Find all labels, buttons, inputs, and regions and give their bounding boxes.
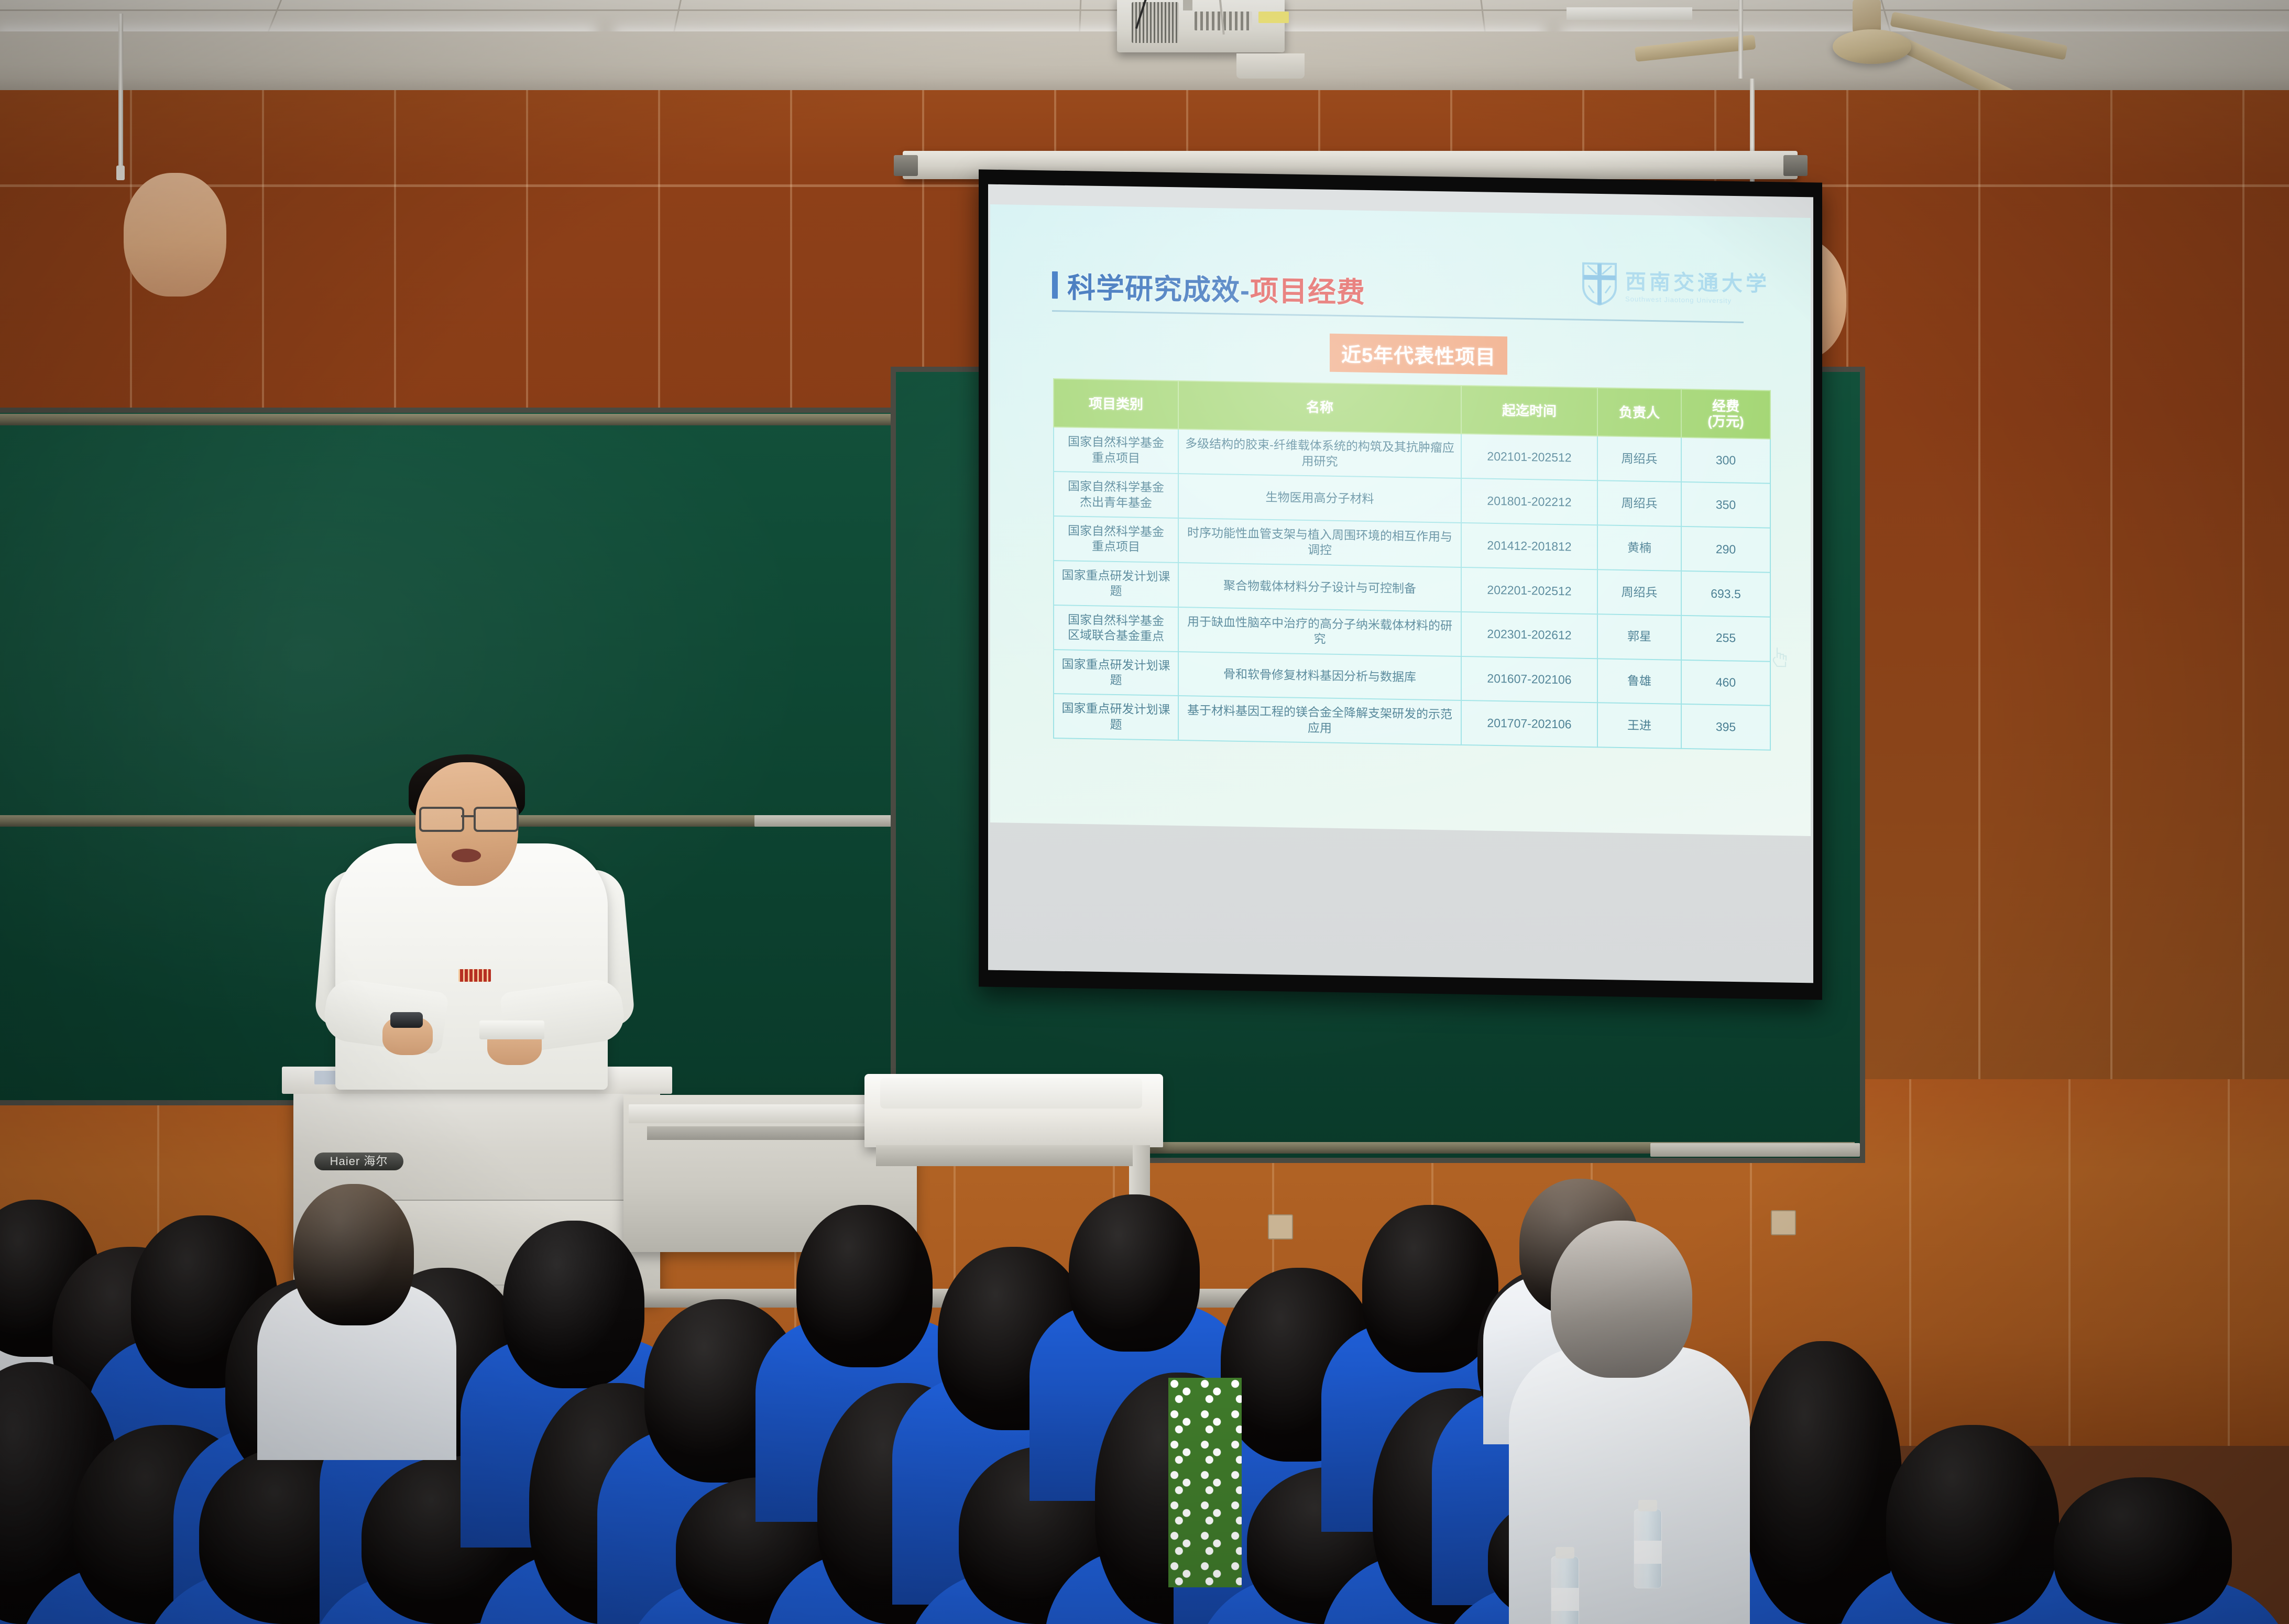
projection-screen-end-cap-right xyxy=(1783,155,1808,176)
slide-title-separator: - xyxy=(1240,275,1250,306)
presenter-glasses-left-lens xyxy=(419,807,464,832)
cell-leader: 周绍兵 xyxy=(1597,436,1681,482)
cell-category: 国家重点研发计划课题 xyxy=(1054,561,1178,607)
audience-head xyxy=(2054,1477,2232,1624)
projects-table-body: 国家自然科学基金重点项目多级结构的胶束-纤维载体系统的构筑及其抗肿瘤应用研究20… xyxy=(1054,427,1770,750)
cell-category: 国家重点研发计划课题 xyxy=(1054,694,1178,740)
slide-title-accent: 项目经费 xyxy=(1250,275,1365,309)
column-header-category: 项目类别 xyxy=(1054,379,1178,429)
sink-apron xyxy=(876,1145,1133,1166)
audience-head xyxy=(1886,1425,2059,1624)
cell-category: 国家自然科学基金区域联合基金重点 xyxy=(1054,605,1178,652)
projects-table: 项目类别 名称 起迄时间 负责人 经费(万元) 国家自然科学基金重点项目多级结构… xyxy=(1053,378,1771,751)
bottle-label xyxy=(1634,1541,1661,1564)
cell-funding: 395 xyxy=(1681,704,1770,750)
column-header-name: 名称 xyxy=(1178,381,1461,434)
projector-label-sticker xyxy=(1258,12,1289,23)
note-cards xyxy=(479,1021,544,1039)
console-brand-plate: Haier 海尔 xyxy=(314,1153,403,1170)
wall-speaker-left xyxy=(124,173,226,297)
cell-category: 国家重点研发计划课题 xyxy=(1054,650,1178,696)
chalkboard-rail-left-top xyxy=(0,414,901,425)
lecture-hall-photo: 科学研究成效-项目经费 近5年代表性项目 西南交通大学 Southwest Ji… xyxy=(0,0,2289,1624)
presenter-glasses-bridge xyxy=(461,815,475,817)
cell-leader: 郭星 xyxy=(1597,614,1681,660)
cell-period: 201412-201812 xyxy=(1461,523,1597,569)
cell-leader: 鲁雄 xyxy=(1597,659,1681,705)
cell-name: 生物医用高分子材料 xyxy=(1178,474,1461,523)
ceiling-fan-motor-housing xyxy=(1833,29,1911,64)
water-bottle-right[interactable] xyxy=(1634,1509,1662,1588)
column-header-period: 起迄时间 xyxy=(1461,386,1597,436)
cell-funding: 255 xyxy=(1681,616,1770,662)
cell-period: 201707-202106 xyxy=(1461,700,1597,747)
cell-period: 202101-202512 xyxy=(1461,434,1597,480)
audience-head xyxy=(293,1184,414,1325)
cell-funding: 350 xyxy=(1681,482,1770,528)
speaker-pole-left xyxy=(118,14,123,171)
cell-leader: 王进 xyxy=(1597,703,1681,749)
page-title: 科学研究成效-项目经费 xyxy=(1067,264,1365,310)
cell-period: 202301-202612 xyxy=(1461,612,1597,659)
title-accent-bar xyxy=(1052,271,1058,298)
sink-basin xyxy=(880,1078,1142,1109)
cell-funding: 460 xyxy=(1681,660,1770,706)
presentation-clicker[interactable] xyxy=(390,1012,423,1028)
slide-title-row: 科学研究成效-项目经费 xyxy=(1052,264,1365,311)
bottle-cap xyxy=(1638,1500,1657,1511)
cell-name: 骨和软骨修复材料基因分析与数据库 xyxy=(1178,652,1461,701)
title-underline xyxy=(1052,310,1744,323)
projector-mount-arm xyxy=(1183,0,1192,10)
cell-period: 201801-202212 xyxy=(1461,478,1597,525)
speaker-neck-left xyxy=(116,166,125,180)
presenter-name-badge xyxy=(458,969,491,982)
status-badge: 近5年代表性项目 xyxy=(1330,334,1507,375)
cell-name: 时序功能性血管支架与植入周围环境的相互作用与调控 xyxy=(1178,518,1461,567)
wall-outlet-right xyxy=(1771,1210,1796,1235)
university-name: 西南交通大学 xyxy=(1625,265,1770,298)
bottle-label xyxy=(1551,1588,1579,1611)
projector-lens-housing xyxy=(1236,53,1305,79)
cell-category: 国家自然科学基金重点项目 xyxy=(1054,427,1178,474)
audience-head xyxy=(1069,1194,1200,1352)
cell-funding: 693.5 xyxy=(1681,571,1770,617)
floral-dress-attendee xyxy=(1168,1378,1242,1587)
presenter-mouth xyxy=(452,849,481,862)
presenter-glasses-right-lens xyxy=(474,807,519,832)
bottle-cap xyxy=(1556,1547,1574,1559)
projection-screen-end-cap-left xyxy=(894,155,918,176)
chalkboard-slider-right[interactable] xyxy=(1650,1143,1860,1157)
audience-head xyxy=(796,1205,933,1367)
audience-head xyxy=(503,1221,644,1388)
cell-period: 202201-202512 xyxy=(1461,567,1597,614)
cell-leader: 周绍兵 xyxy=(1597,480,1681,526)
hand-pointer-icon[interactable] xyxy=(1771,647,1789,668)
cell-name: 基于材料基因工程的镁合金全降解支架研发的示范应用 xyxy=(1178,696,1461,745)
chalkboard-slider-left[interactable] xyxy=(754,815,906,827)
column-header-funding: 经费(万元) xyxy=(1681,389,1770,439)
cell-category: 国家自然科学基金重点项目 xyxy=(1054,516,1178,563)
shield-icon xyxy=(1581,260,1618,306)
ceiling-fan-support-rod xyxy=(1738,0,1743,79)
cell-funding: 300 xyxy=(1681,437,1770,484)
cell-name: 聚合物载体材料分子设计与可控制备 xyxy=(1178,563,1461,612)
cell-leader: 黄楠 xyxy=(1597,525,1681,571)
cell-leader: 周绍兵 xyxy=(1597,569,1681,616)
water-bottle-right-2[interactable] xyxy=(1551,1556,1579,1624)
console-brand-label: Haier 海尔 xyxy=(314,1153,403,1170)
senior-attendee-shirt xyxy=(1509,1346,1750,1624)
column-header-leader: 负责人 xyxy=(1597,388,1681,437)
cell-period: 201607-202106 xyxy=(1461,656,1597,703)
cell-category: 国家自然科学基金杰出青年基金 xyxy=(1054,471,1178,518)
cell-name: 用于缺血性脑卒中治疗的高分子纳米载体材料的研究 xyxy=(1178,607,1461,656)
cell-name: 多级结构的胶束-纤维载体系统的构筑及其抗肿瘤应用研究 xyxy=(1178,429,1461,478)
senior-attendee-head xyxy=(1551,1221,1692,1378)
university-logo: 西南交通大学 Southwest Jiaotong University xyxy=(1581,260,1770,309)
slide-title-main: 科学研究成效 xyxy=(1067,272,1240,306)
ceiling-panel-trim xyxy=(1567,7,1692,20)
wall-outlet-mid xyxy=(1268,1214,1293,1239)
cell-funding: 290 xyxy=(1681,526,1770,573)
projected-slide: 科学研究成效-项目经费 近5年代表性项目 西南交通大学 Southwest Ji… xyxy=(990,204,1811,836)
